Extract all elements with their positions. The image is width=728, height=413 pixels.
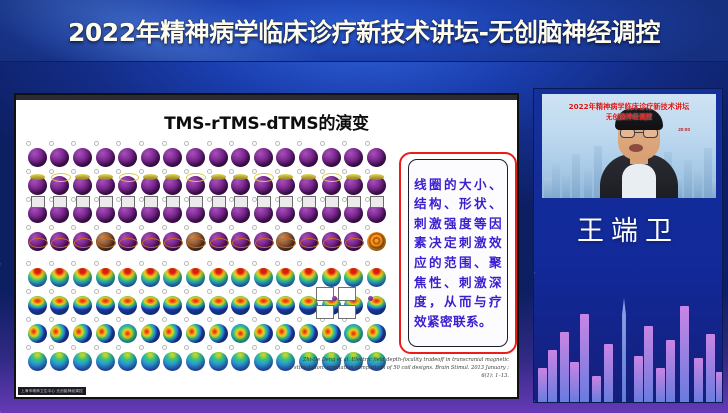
head-model: [96, 296, 115, 315]
figure-cell-index: [275, 225, 280, 230]
figure-cell-index: [139, 261, 144, 266]
figure-cell: [229, 225, 252, 251]
figure-cell: [275, 261, 298, 287]
figure-cell-index: [116, 169, 121, 174]
figure-cell-index: [49, 317, 54, 322]
figure-cell: [297, 261, 320, 287]
figure-cell: [252, 141, 275, 167]
head-model: [322, 324, 341, 343]
head-model: [344, 148, 363, 167]
figure-cell-index: [94, 289, 99, 294]
head-model: [186, 324, 205, 343]
figure-cell: [26, 197, 49, 223]
figure-cell: [49, 197, 72, 223]
figure-cell-index: [342, 141, 347, 146]
figure-cell: [139, 261, 162, 287]
figure-cell: [94, 169, 117, 195]
figure-cell: [320, 261, 343, 287]
figure-cell: [26, 141, 49, 167]
head-model: [163, 148, 182, 167]
video-skyline-building: [562, 172, 570, 198]
figure-cell: [365, 141, 388, 167]
head-model: [254, 176, 273, 195]
figure-cell: [94, 317, 117, 343]
head-model: [276, 148, 295, 167]
figure-cell-index: [320, 141, 325, 146]
figure-cell-index: [49, 225, 54, 230]
figure-cell: [297, 169, 320, 195]
head-model: [299, 268, 318, 287]
head-model: [367, 204, 386, 223]
figure-cell: [365, 225, 388, 251]
head-model: [73, 296, 92, 315]
figure-cell: [365, 169, 388, 195]
coil-schematic-d: [338, 305, 356, 319]
head-model: [50, 268, 69, 287]
figure-cell: [252, 197, 275, 223]
figure-cell-index: [49, 169, 54, 174]
head-model: [118, 204, 137, 223]
red-callout-box: 线圈的大小、结构、形状、刺激强度等因素决定刺激效应的范围、聚焦性、刺激深度，从而…: [399, 152, 517, 354]
figure-cell: [207, 261, 230, 287]
figure-row: [26, 317, 388, 343]
head-model: [96, 268, 115, 287]
figure-row: [26, 141, 388, 167]
figure-cell: [229, 169, 252, 195]
figure-cell-index: [275, 261, 280, 266]
head-model: [209, 352, 228, 371]
head-model: [231, 324, 250, 343]
figure-cell-index: [94, 261, 99, 266]
figure-cell: [275, 197, 298, 223]
figure-cell-index: [342, 261, 347, 266]
video-overlay-title: 2022年精神病学临床诊疗新技术讲坛 无创脑神经调控: [542, 102, 716, 123]
figure-cell: [49, 225, 72, 251]
head-model: [254, 324, 273, 343]
figure-cell-index: [229, 141, 234, 146]
figure-cell-index: [162, 317, 167, 322]
speaker-avatar: [600, 112, 678, 198]
figure-cell-index: [116, 141, 121, 146]
head-model: [254, 268, 273, 287]
figure-cell-index: [26, 345, 31, 350]
head-model: [96, 352, 115, 371]
head-model: [231, 352, 250, 371]
figure-cell-index: [184, 289, 189, 294]
figure-cell: [71, 225, 94, 251]
figure-cell: [116, 317, 139, 343]
head-model: [209, 268, 228, 287]
figure-cell-index: [275, 169, 280, 174]
slide-footer-label: 上海市精神卫生中心 无创脑神经调控: [18, 387, 86, 395]
figure-cell: [184, 345, 207, 371]
head-model: [141, 232, 160, 251]
figure-cell: [365, 261, 388, 287]
figure-cell-index: [320, 345, 325, 350]
figure-cell: [71, 317, 94, 343]
figure-cell-index: [26, 289, 31, 294]
figure-cell-index: [229, 317, 234, 322]
figure-cell-index: [297, 261, 302, 266]
head-model: [276, 324, 295, 343]
figure-cell: [116, 169, 139, 195]
head-model: [367, 176, 386, 195]
figure-row: [26, 197, 388, 223]
figure-cell-index: [320, 261, 325, 266]
head-model: [163, 204, 182, 223]
video-overlay-time: 20:00: [678, 127, 690, 132]
figure-cell-index: [71, 169, 76, 174]
head-model: [50, 176, 69, 195]
head-model: [186, 296, 205, 315]
figure-cell-index: [139, 169, 144, 174]
speaker-panel[interactable]: 2022年精神病学临床诊疗新技术讲坛 无创脑神经调控 20:00 王端卫: [533, 88, 723, 403]
figure-cell-index: [365, 225, 370, 230]
head-model: [276, 232, 295, 251]
head-model: [299, 176, 318, 195]
figure-cell-index: [139, 141, 144, 146]
figure-cell-index: [229, 261, 234, 266]
figure-cell: [94, 141, 117, 167]
video-skyline-building: [552, 164, 560, 198]
figure-cell: [139, 197, 162, 223]
figure-cell: [184, 225, 207, 251]
figure-cell-index: [26, 317, 31, 322]
head-model: [28, 352, 47, 371]
figure-cell-index: [162, 225, 167, 230]
head-model: [163, 296, 182, 315]
figure-cell-index: [252, 261, 257, 266]
figure-cell-index: [297, 345, 302, 350]
head-model: [299, 232, 318, 251]
figure-cell-index: [297, 289, 302, 294]
head-model: [50, 324, 69, 343]
head-model: [322, 148, 341, 167]
head-model: [96, 324, 115, 343]
figure-cell-index: [275, 141, 280, 146]
figure-cell-index: [49, 345, 54, 350]
head-model: [344, 232, 363, 251]
head-model: [186, 176, 205, 195]
head-model: [118, 232, 137, 251]
figure-cell-index: [275, 345, 280, 350]
figure-cell: [26, 261, 49, 287]
head-model: [276, 204, 295, 223]
head-model: [231, 204, 250, 223]
figure-cell: [49, 289, 72, 315]
figure-cell-index: [252, 317, 257, 322]
figure-cell: [229, 197, 252, 223]
figure-cell: [320, 169, 343, 195]
speaker-name: 王端卫: [534, 209, 722, 248]
head-model: [141, 176, 160, 195]
figure-cell-index: [71, 141, 76, 146]
head-model: [276, 352, 295, 371]
figure-cell-index: [342, 169, 347, 174]
head-model: [367, 232, 386, 251]
video-skyline-building: [572, 154, 580, 198]
figure-cell: [252, 317, 275, 343]
head-model: [209, 232, 228, 251]
head-model: [299, 148, 318, 167]
figure-cell-index: [162, 289, 167, 294]
head-model: [73, 176, 92, 195]
callout-text: 线圈的大小、结构、形状、刺激强度等因素决定刺激效应的范围、聚焦性、刺激深度，从而…: [414, 175, 502, 331]
figure-cell-index: [207, 261, 212, 266]
figure-cell: [139, 225, 162, 251]
figure-cell: [26, 289, 49, 315]
head-model: [276, 296, 295, 315]
head-model: [141, 296, 160, 315]
figure-cell: [116, 141, 139, 167]
head-model: [73, 148, 92, 167]
head-model: [96, 148, 115, 167]
coil-dot-marker-a: [332, 296, 337, 301]
head-model: [254, 232, 273, 251]
figure-cell-index: [49, 141, 54, 146]
figure-row: [26, 261, 388, 287]
header-banner: 2022年精神病学临床诊疗新技术讲坛-无创脑神经调控: [0, 0, 728, 62]
presentation-slide[interactable]: TMS-rTMS-dTMS的演变 线圈的大小、结构、形状、刺激强度等因素决定刺激…: [14, 93, 519, 399]
head-model: [299, 204, 318, 223]
coil-schematic-b: [338, 287, 356, 301]
figure-cell: [229, 345, 252, 371]
figure-cell-index: [94, 169, 99, 174]
head-model: [367, 268, 386, 287]
head-model: [231, 296, 250, 315]
head-model: [163, 268, 182, 287]
head-model: [96, 204, 115, 223]
head-model: [118, 148, 137, 167]
figure-cell-index: [94, 317, 99, 322]
figure-cell: [94, 225, 117, 251]
head-model: [141, 148, 160, 167]
figure-cell: [275, 141, 298, 167]
head-model: [163, 176, 182, 195]
figure-cell: [184, 141, 207, 167]
head-model: [141, 204, 160, 223]
callout-inner-frame: 线圈的大小、结构、形状、刺激强度等因素决定刺激效应的范围、聚焦性、刺激深度，从而…: [408, 159, 508, 347]
head-model: [50, 148, 69, 167]
figure-cell: [94, 345, 117, 371]
figure-cell: [94, 261, 117, 287]
figure-cell: [207, 225, 230, 251]
head-model: [28, 268, 47, 287]
figure-cell: [229, 289, 252, 315]
head-model: [73, 324, 92, 343]
figure-cell: [139, 289, 162, 315]
head-model: [276, 176, 295, 195]
figure-cell-index: [184, 345, 189, 350]
figure-cell: [94, 289, 117, 315]
head-model: [322, 268, 341, 287]
figure-cell: [71, 169, 94, 195]
slide-top-bar: [16, 95, 517, 100]
figure-cell: [26, 317, 49, 343]
figure-cell-index: [26, 169, 31, 174]
head-model: [73, 232, 92, 251]
head-model: [96, 176, 115, 195]
video-skyline-building: [712, 178, 716, 198]
figure-cell: [116, 345, 139, 371]
head-model: [186, 148, 205, 167]
figure-cell: [71, 141, 94, 167]
figure-cell: [229, 141, 252, 167]
figure-cell-index: [275, 289, 280, 294]
figure-cell: [320, 197, 343, 223]
figure-cell: [320, 225, 343, 251]
speaker-shirt: [622, 164, 656, 198]
figure-cell: [229, 261, 252, 287]
head-model: [28, 148, 47, 167]
video-skyline-building: [704, 148, 712, 198]
figure-cell-index: [26, 141, 31, 146]
head-model: [209, 176, 228, 195]
figure-cell: [365, 289, 388, 315]
figure-cell: [297, 141, 320, 167]
figure-cell: [26, 169, 49, 195]
head-model: [118, 268, 137, 287]
head-model: [141, 352, 160, 371]
figure-cell-index: [365, 169, 370, 174]
head-model: [254, 148, 273, 167]
figure-cell: [184, 261, 207, 287]
figure-cell: [139, 317, 162, 343]
head-model: [322, 176, 341, 195]
figure-cell: [275, 225, 298, 251]
head-model: [163, 324, 182, 343]
figure-cell: [252, 261, 275, 287]
figure-cell: [184, 197, 207, 223]
figure-cell-index: [229, 289, 234, 294]
figure-cell: [297, 225, 320, 251]
head-model: [28, 324, 47, 343]
figure-cell: [342, 261, 365, 287]
head-model: [276, 268, 295, 287]
figure-cell: [71, 197, 94, 223]
figure-cell: [207, 317, 230, 343]
figure-cell: [320, 317, 343, 343]
figure-cell-index: [71, 289, 76, 294]
figure-cell-index: [184, 261, 189, 266]
head-model: [322, 204, 341, 223]
figure-cell-index: [139, 345, 144, 350]
figure-cell: [207, 197, 230, 223]
figure-cell-index: [365, 345, 370, 350]
head-model: [163, 352, 182, 371]
figure-cell: [71, 261, 94, 287]
figure-cell: [184, 317, 207, 343]
figure-cell-index: [365, 289, 370, 294]
figure-cell-index: [162, 261, 167, 266]
figure-cell: [49, 345, 72, 371]
head-model: [186, 232, 205, 251]
head-model: [96, 232, 115, 251]
head-model: [28, 232, 47, 251]
figure-cell-index: [320, 225, 325, 230]
figure-cell: [252, 169, 275, 195]
figure-cell-index: [71, 317, 76, 322]
figure-cell-index: [252, 345, 257, 350]
head-model: [231, 232, 250, 251]
head-model: [186, 268, 205, 287]
head-model: [344, 268, 363, 287]
figure-cell: [342, 141, 365, 167]
figure-cell-index: [116, 345, 121, 350]
figure-cell-index: [71, 345, 76, 350]
figure-cell-index: [184, 317, 189, 322]
head-model: [254, 296, 273, 315]
page-title: 2022年精神病学临床诊疗新技术讲坛-无创脑神经调控: [68, 13, 660, 49]
slide-title: TMS-rTMS-dTMS的演变: [16, 109, 517, 134]
figure-cell-index: [207, 317, 212, 322]
figure-cell: [207, 141, 230, 167]
figure-cell: [275, 289, 298, 315]
speaker-video-tile[interactable]: 2022年精神病学临床诊疗新技术讲坛 无创脑神经调控 20:00: [542, 94, 716, 198]
head-model: [141, 324, 160, 343]
head-model: [118, 352, 137, 371]
figure-cell: [162, 169, 185, 195]
figure-cell-index: [94, 345, 99, 350]
figure-cell-index: [342, 345, 347, 350]
head-model: [367, 324, 386, 343]
figure-cell-index: [94, 141, 99, 146]
figure-row: [26, 169, 388, 195]
figure-cell-index: [162, 345, 167, 350]
coil-schematic-c: [316, 305, 334, 319]
figure-cell: [94, 197, 117, 223]
figure-cell-index: [365, 317, 370, 322]
figure-cell-index: [139, 225, 144, 230]
figure-cell-index: [184, 225, 189, 230]
coil-figure: [26, 141, 388, 373]
head-model: [73, 352, 92, 371]
head-model: [118, 324, 137, 343]
figure-cell: [71, 345, 94, 371]
figure-cell-index: [207, 169, 212, 174]
figure-cell-index: [116, 225, 121, 230]
figure-cell: [365, 197, 388, 223]
figure-cell-index: [207, 141, 212, 146]
figure-cell-index: [297, 169, 302, 174]
coil-dot-marker-b: [368, 296, 373, 301]
figure-cell: [116, 289, 139, 315]
figure-cell: [184, 169, 207, 195]
head-model: [367, 148, 386, 167]
panel-light-rays: [534, 272, 722, 402]
figure-cell: [184, 289, 207, 315]
figure-cell-index: [162, 169, 167, 174]
figure-cell-index: [139, 317, 144, 322]
figure-cell-index: [229, 169, 234, 174]
figure-cell-index: [184, 141, 189, 146]
figure-cell: [207, 289, 230, 315]
figure-cell: [365, 317, 388, 343]
head-model: [73, 268, 92, 287]
figure-cell-index: [365, 141, 370, 146]
figure-cell-index: [229, 345, 234, 350]
head-model: [209, 204, 228, 223]
video-skyline-building: [684, 160, 692, 198]
figure-cell-index: [252, 225, 257, 230]
head-model: [209, 324, 228, 343]
figure-cell: [229, 317, 252, 343]
figure-cell-index: [94, 225, 99, 230]
figure-cell: [26, 225, 49, 251]
figure-cell: [342, 169, 365, 195]
figure-cell-index: [320, 169, 325, 174]
figure-cell: [342, 197, 365, 223]
